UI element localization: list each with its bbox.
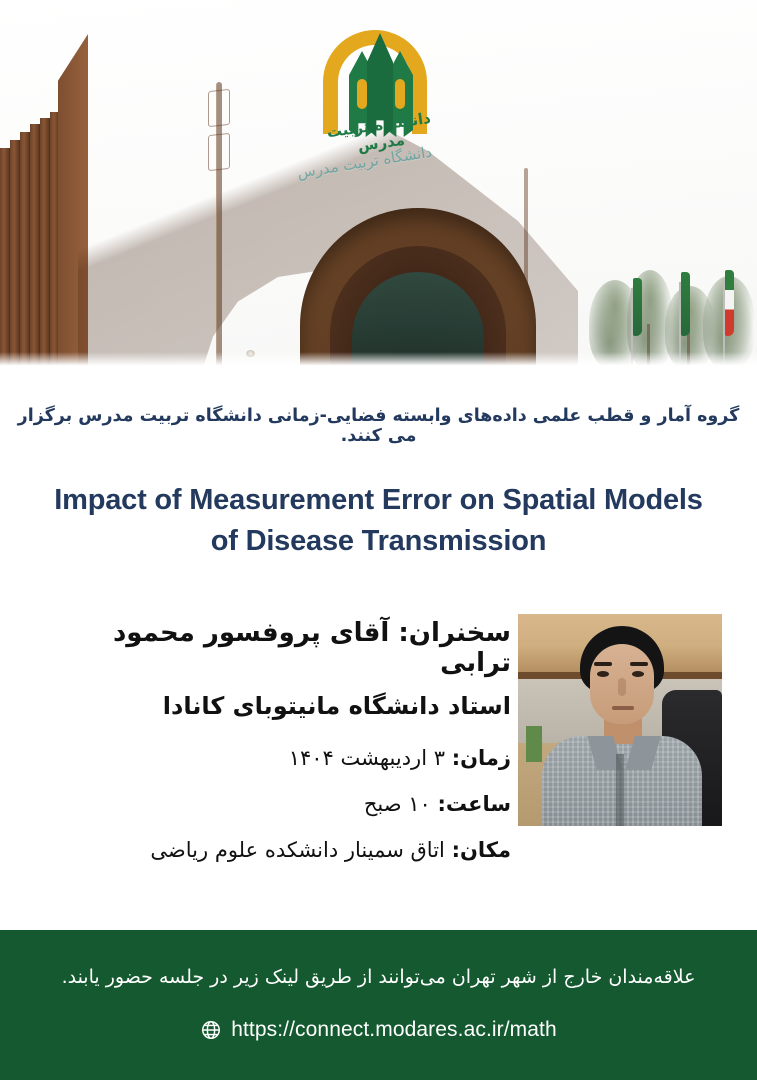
monument-groove-right <box>524 168 528 288</box>
speaker-affiliation-line: استاد دانشگاه مانیتوبای کانادا <box>91 692 511 720</box>
place-label: مکان: <box>452 838 511 862</box>
monument-ornament <box>208 133 230 171</box>
flag-iran-icon <box>725 270 734 336</box>
date-label: زمان: <box>452 746 511 770</box>
footer-link-row[interactable]: https://connect.modares.ac.ir/math <box>0 1018 757 1042</box>
date-row: زمان: ۳ اردیبهشت ۱۴۰۴ <box>91 746 511 770</box>
header-fade <box>0 352 757 368</box>
photo-background-object <box>526 726 542 762</box>
meeting-link[interactable]: https://connect.modares.ac.ir/math <box>231 1018 557 1042</box>
flag-green-icon <box>633 278 642 336</box>
photo-shirt-placket <box>616 754 624 826</box>
place-row: مکان: اتاق سمینار دانشکده علوم ریاضی <box>91 838 511 862</box>
footer-note: علاقه‌مندان خارج از شهر تهران می‌توانند … <box>0 966 757 988</box>
photo-mouth <box>612 706 634 710</box>
university-logo: دانشگاه تربیت مدرس <box>305 8 455 153</box>
date-value: ۳ اردیبهشت ۱۴۰۴ <box>289 746 445 770</box>
time-value: ۱۰ صبح <box>364 792 431 816</box>
monument-ornament <box>208 89 230 127</box>
photo-eye-right <box>632 671 644 677</box>
footer-banner: علاقه‌مندان خارج از شهر تهران می‌توانند … <box>0 930 757 1080</box>
photo-eye-left <box>597 671 609 677</box>
event-details: سخنران: آقای پروفسور محمود ترابی استاد د… <box>91 618 511 884</box>
photo-eyebrow-right <box>630 662 648 666</box>
speaker-photo <box>518 614 722 826</box>
flag-green-icon <box>681 272 690 336</box>
time-row: ساعت: ۱۰ صبح <box>91 792 511 816</box>
globe-icon <box>200 1019 222 1041</box>
photo-eyebrow-left <box>594 662 612 666</box>
talk-title-line-1: Impact of Measurement Error on Spatial M… <box>0 480 757 521</box>
seminar-poster: دانشگاه تربیت مدرس دانشگاه تربیت مدرس گر… <box>0 0 757 1080</box>
photo-nose <box>618 678 626 696</box>
talk-title: Impact of Measurement Error on Spatial M… <box>0 480 757 562</box>
time-label: ساعت: <box>437 792 511 816</box>
speaker-name-line: سخنران: آقای پروفسور محمود ترابی <box>91 618 511 678</box>
organizer-line: گروه آمار و قطب علمی داده‌های وابسته فضا… <box>0 406 757 446</box>
logo-tulip-core-left <box>357 79 367 109</box>
logo-tulip-core-right <box>395 79 405 109</box>
place-value: اتاق سمینار دانشکده علوم ریاضی <box>150 838 444 862</box>
talk-title-line-2: of Disease Transmission <box>0 521 757 562</box>
